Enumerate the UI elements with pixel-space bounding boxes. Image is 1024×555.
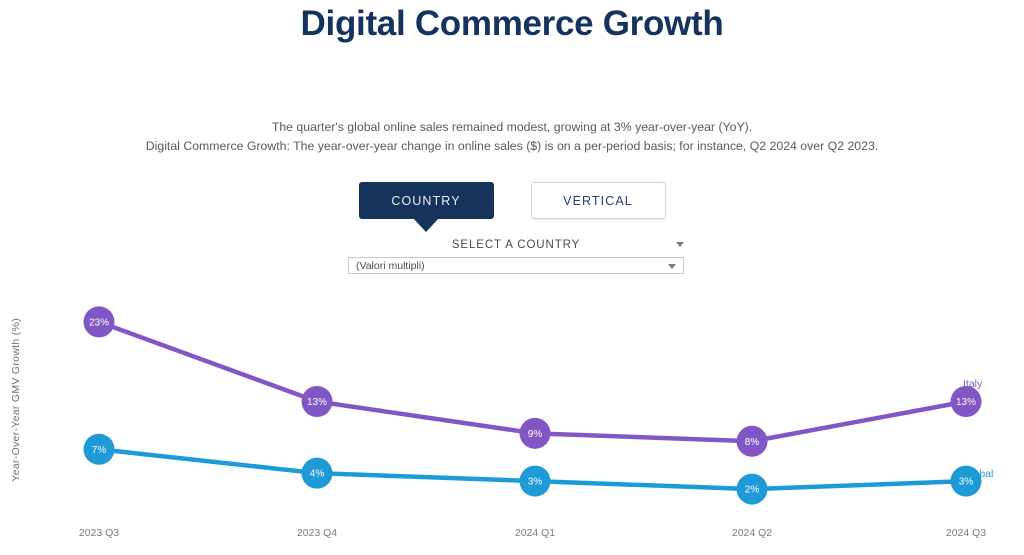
data-point-label: 23% [89, 317, 109, 328]
data-point-label: 4% [310, 469, 325, 480]
data-point-italy-2024-Q3[interactable]: 13% [951, 386, 982, 417]
data-point-global-2024-Q1[interactable]: 3% [520, 466, 551, 497]
data-point-label: 2% [745, 485, 760, 496]
x-axis-tick-2024-Q1: 2024 Q1 [515, 527, 555, 539]
data-point-italy-2023-Q3[interactable]: 23% [84, 306, 115, 337]
series-label-global: Global [963, 468, 993, 480]
data-point-global-2023-Q4[interactable]: 4% [302, 458, 333, 489]
data-point-label: 9% [528, 429, 543, 440]
x-axis-tick-2023-Q3: 2023 Q3 [79, 527, 119, 539]
x-axis-tick-2023-Q4: 2023 Q4 [297, 527, 337, 539]
data-point-label: 3% [528, 477, 543, 488]
data-point-italy-2023-Q4[interactable]: 13% [302, 386, 333, 417]
data-point-italy-2024-Q1[interactable]: 9% [520, 418, 551, 449]
data-point-global-2023-Q3[interactable]: 7% [84, 434, 115, 465]
dashboard-page: Digital Commerce Growth The quarter's gl… [0, 0, 1024, 555]
x-axis-tick-2024-Q2: 2024 Q2 [732, 527, 772, 539]
data-point-label: 13% [956, 397, 976, 408]
x-axis-tick-2024-Q3: 2024 Q3 [946, 527, 986, 539]
line-chart-plot: 23%13%9%8%13%7%4%3%2%3% [0, 0, 1024, 555]
data-point-label: 13% [307, 397, 327, 408]
chart-svg: 23%13%9%8%13%7%4%3%2%3% [0, 0, 1024, 555]
x-axis: 2023 Q32023 Q42024 Q12024 Q22024 Q3 [0, 527, 1024, 547]
data-point-label: 8% [745, 437, 760, 448]
series-label-italy: Italy [963, 378, 982, 390]
data-point-italy-2024-Q2[interactable]: 8% [737, 426, 768, 457]
data-point-label: 7% [92, 445, 107, 456]
data-point-global-2024-Q2[interactable]: 2% [737, 474, 768, 505]
